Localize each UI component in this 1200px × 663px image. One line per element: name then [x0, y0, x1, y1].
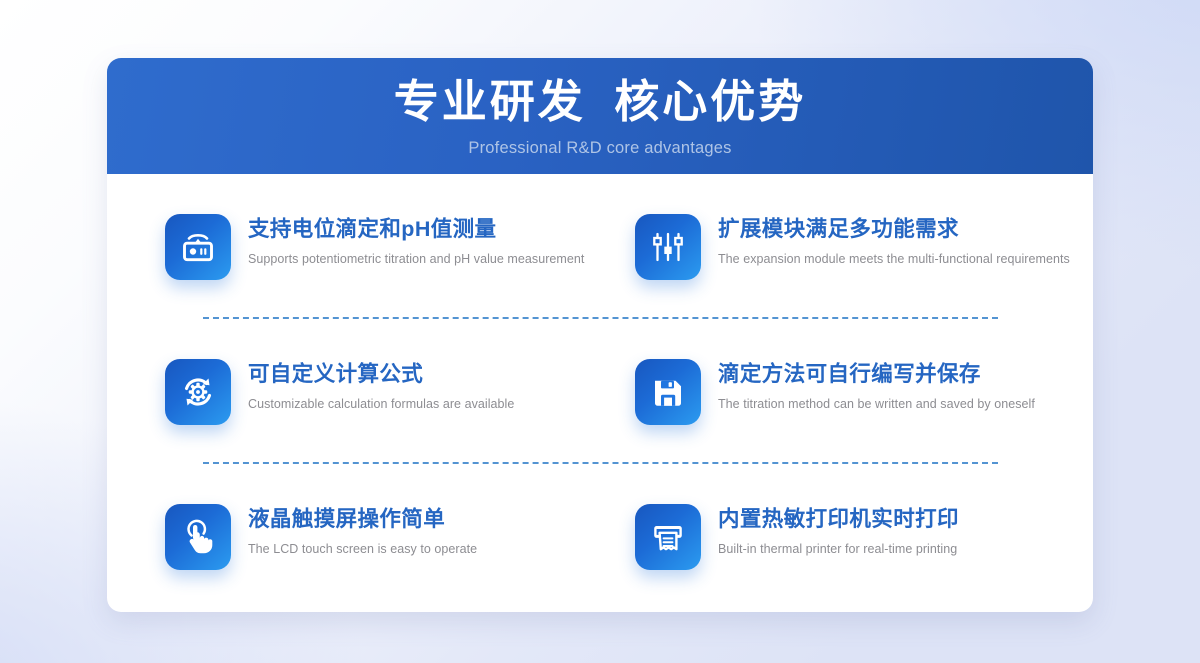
- row-divider: [203, 462, 998, 464]
- feature-item-4[interactable]: 液晶触摸屏操作简单 The LCD touch screen is easy t…: [107, 501, 594, 570]
- page-title: 专业研发 核心优势: [107, 79, 1093, 126]
- feature-title: 扩展模块满足多功能需求: [718, 216, 1070, 243]
- feature-row: 可自定义计算公式 Customizable calculation formul…: [107, 319, 1093, 462]
- feature-title: 滴定方法可自行编写并保存: [718, 361, 1035, 388]
- feature-title: 支持电位滴定和pH值测量: [248, 216, 584, 243]
- feature-subtitle: The expansion module meets the multi-fun…: [718, 251, 1070, 267]
- feature-item-2[interactable]: 可自定义计算公式 Customizable calculation formul…: [107, 356, 594, 425]
- feature-row: 液晶触摸屏操作简单 The LCD touch screen is easy t…: [107, 464, 1093, 607]
- printer-receipt-icon: [635, 504, 701, 570]
- feature-text: 液晶触摸屏操作简单 The LCD touch screen is easy t…: [231, 501, 477, 557]
- feature-item-5[interactable]: 内置热敏打印机实时打印 Built-in thermal printer for…: [594, 501, 1093, 570]
- feature-subtitle: The LCD touch screen is easy to operate: [248, 541, 477, 557]
- floppy-save-icon: [635, 359, 701, 425]
- feature-title: 内置热敏打印机实时打印: [718, 506, 959, 533]
- features-body: 支持电位滴定和pH值测量 Supports potentiometric tit…: [107, 174, 1093, 612]
- feature-item-0[interactable]: 支持电位滴定和pH值测量 Supports potentiometric tit…: [107, 211, 594, 280]
- sync-gear-icon: [165, 359, 231, 425]
- feature-text: 滴定方法可自行编写并保存 The titration method can be…: [701, 356, 1035, 412]
- feature-text: 扩展模块满足多功能需求 The expansion module meets t…: [701, 211, 1070, 267]
- feature-subtitle: Supports potentiometric titration and pH…: [248, 251, 584, 267]
- sliders-equalizer-icon: [635, 214, 701, 280]
- feature-title: 液晶触摸屏操作简单: [248, 506, 477, 533]
- card-header: 专业研发 核心优势 Professional R&D core advantag…: [107, 58, 1093, 174]
- feature-text: 可自定义计算公式 Customizable calculation formul…: [231, 356, 514, 412]
- feature-subtitle: Customizable calculation formulas are av…: [248, 396, 514, 412]
- feature-title: 可自定义计算公式: [248, 361, 514, 388]
- feature-text: 内置热敏打印机实时打印 Built-in thermal printer for…: [701, 501, 959, 557]
- feature-subtitle: The titration method can be written and …: [718, 396, 1035, 412]
- feature-item-1[interactable]: 扩展模块满足多功能需求 The expansion module meets t…: [594, 211, 1093, 280]
- feature-text: 支持电位滴定和pH值测量 Supports potentiometric tit…: [231, 211, 584, 267]
- touch-hand-icon: [165, 504, 231, 570]
- feature-row: 支持电位滴定和pH值测量 Supports potentiometric tit…: [107, 174, 1093, 317]
- advantages-card: 专业研发 核心优势 Professional R&D core advantag…: [107, 58, 1093, 612]
- instrument-device-icon: [165, 214, 231, 280]
- row-divider: [203, 317, 998, 319]
- page-subtitle: Professional R&D core advantages: [107, 139, 1093, 158]
- feature-item-3[interactable]: 滴定方法可自行编写并保存 The titration method can be…: [594, 356, 1093, 425]
- feature-subtitle: Built-in thermal printer for real-time p…: [718, 541, 959, 557]
